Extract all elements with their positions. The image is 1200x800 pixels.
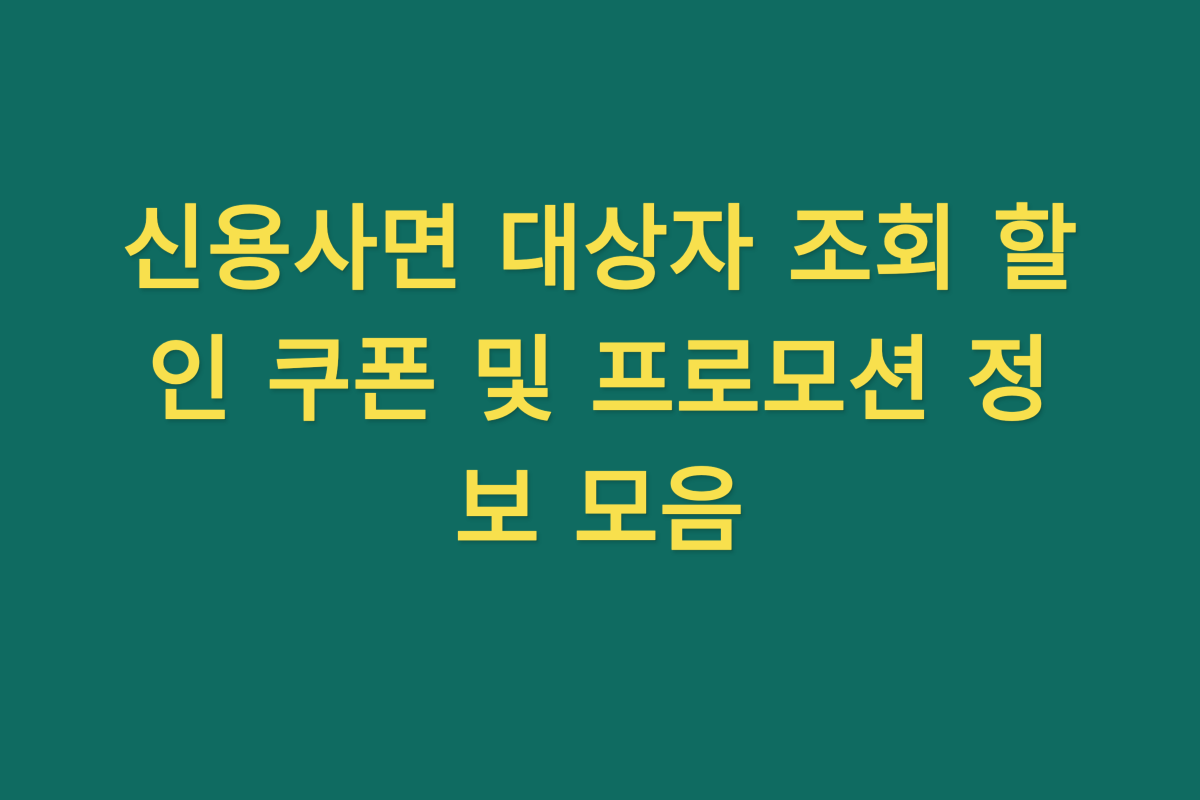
headline-line-1: 신용사면 대상자 조회 할 bbox=[65, 185, 1135, 316]
text-banner: 신용사면 대상자 조회 할 인 쿠폰 및 프로모션 정 보 모음 bbox=[0, 0, 1200, 800]
headline-line-2: 인 쿠폰 및 프로모션 정 bbox=[65, 316, 1135, 447]
headline-block: 신용사면 대상자 조회 할 인 쿠폰 및 프로모션 정 보 모음 bbox=[65, 185, 1135, 577]
banner-headline: 신용사면 대상자 조회 할 인 쿠폰 및 프로모션 정 보 모음 bbox=[65, 185, 1135, 577]
headline-line-3: 보 모음 bbox=[65, 446, 1135, 577]
